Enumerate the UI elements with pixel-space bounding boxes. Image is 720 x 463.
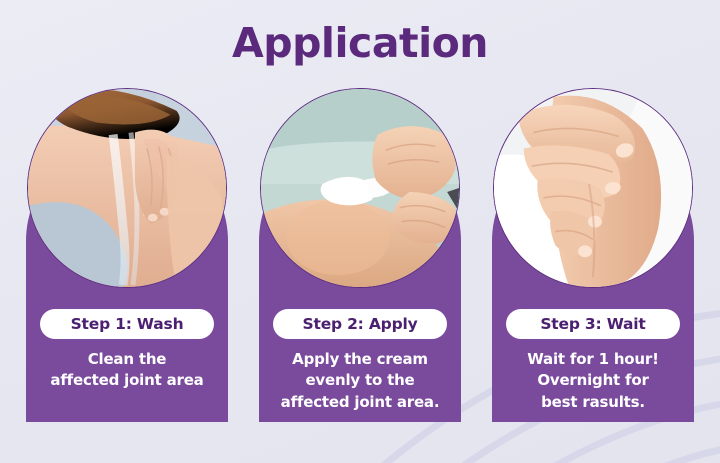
step-card-2: Step 2: Apply Apply the cream evenly to …: [259, 88, 461, 422]
step-1-pill: Step 1: Wash: [40, 309, 214, 339]
step-3-description: Wait for 1 hour! Overnight for best rasu…: [500, 349, 686, 413]
step-2-description: Apply the cream evenly to the affected j…: [267, 349, 453, 413]
step-2-image: [260, 88, 460, 288]
step-1-desc-line-2: affected joint area: [34, 370, 220, 391]
step-1-image: [27, 88, 227, 288]
step-2-desc-line-2: evenly to the: [267, 370, 453, 391]
step-card-3: Step 3: Wait Wait for 1 hour! Overnight …: [492, 88, 694, 422]
steps-card-row: Step 1: Wash Clean the affected joint ar…: [26, 88, 694, 422]
step-3-desc-line-2: Overnight for: [500, 370, 686, 391]
step-card-1: Step 1: Wash Clean the affected joint ar…: [26, 88, 228, 422]
step-3-image: [493, 88, 693, 288]
step-1-description: Clean the affected joint area: [34, 349, 220, 392]
step-3-desc-line-3: best rasults.: [500, 392, 686, 413]
step-2-desc-line-1: Apply the cream: [267, 349, 453, 370]
application-steps-graphic: Application: [0, 0, 720, 463]
page-title: Application: [0, 19, 720, 67]
step-3-pill: Step 3: Wait: [506, 309, 680, 339]
step-2-desc-line-3: affected joint area.: [267, 392, 453, 413]
step-2-pill: Step 2: Apply: [273, 309, 447, 339]
step-1-desc-line-1: Clean the: [34, 349, 220, 370]
step-3-desc-line-1: Wait for 1 hour!: [500, 349, 686, 370]
